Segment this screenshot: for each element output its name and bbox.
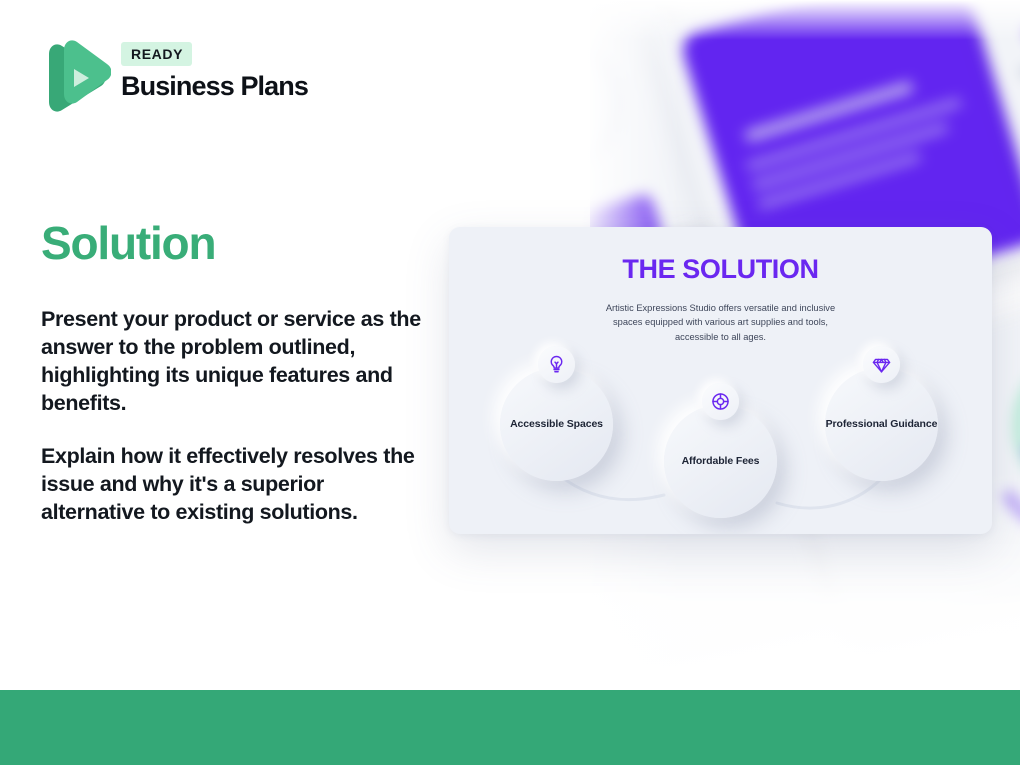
slide-canvas: READY Business Plans Solution Present yo… bbox=[0, 0, 1020, 765]
feature-node-icon-badge bbox=[702, 383, 739, 420]
page-title: Solution bbox=[41, 216, 215, 270]
feature-node-circle: Accessible Spaces bbox=[500, 368, 613, 481]
body-copy: Present your product or service as the a… bbox=[41, 306, 433, 527]
lightbulb-icon bbox=[546, 354, 567, 375]
play-triangle-logo-icon bbox=[41, 36, 111, 122]
feature-node-circle: Affordable Fees bbox=[664, 405, 777, 518]
feature-node-label: Accessible Spaces bbox=[510, 418, 603, 431]
solution-card: THE SOLUTION Artistic Expressions Studio… bbox=[449, 227, 992, 534]
feature-node-professional-guidance[interactable]: Professional Guidance bbox=[825, 346, 938, 486]
brand-name: Business Plans bbox=[121, 71, 308, 102]
feature-node-affordable-fees[interactable]: Affordable Fees bbox=[664, 383, 777, 523]
ready-badge: READY bbox=[121, 42, 192, 66]
feature-node-label: Affordable Fees bbox=[682, 455, 760, 468]
brand-logo-text: READY Business Plans bbox=[121, 36, 308, 102]
brand-logo: READY Business Plans bbox=[41, 36, 308, 122]
body-paragraph-2: Explain how it effectively resolves the … bbox=[41, 443, 433, 527]
diamond-icon bbox=[871, 354, 892, 375]
footer-bar bbox=[0, 690, 1020, 765]
feature-node-accessible-spaces[interactable]: Accessible Spaces bbox=[500, 346, 613, 486]
feature-node-icon-badge bbox=[863, 346, 900, 383]
feature-node-label: Professional Guidance bbox=[826, 418, 938, 431]
lifebuoy-icon bbox=[710, 391, 731, 412]
feature-node-circle: Professional Guidance bbox=[825, 368, 938, 481]
body-paragraph-1: Present your product or service as the a… bbox=[41, 306, 433, 418]
feature-node-icon-badge bbox=[538, 346, 575, 383]
